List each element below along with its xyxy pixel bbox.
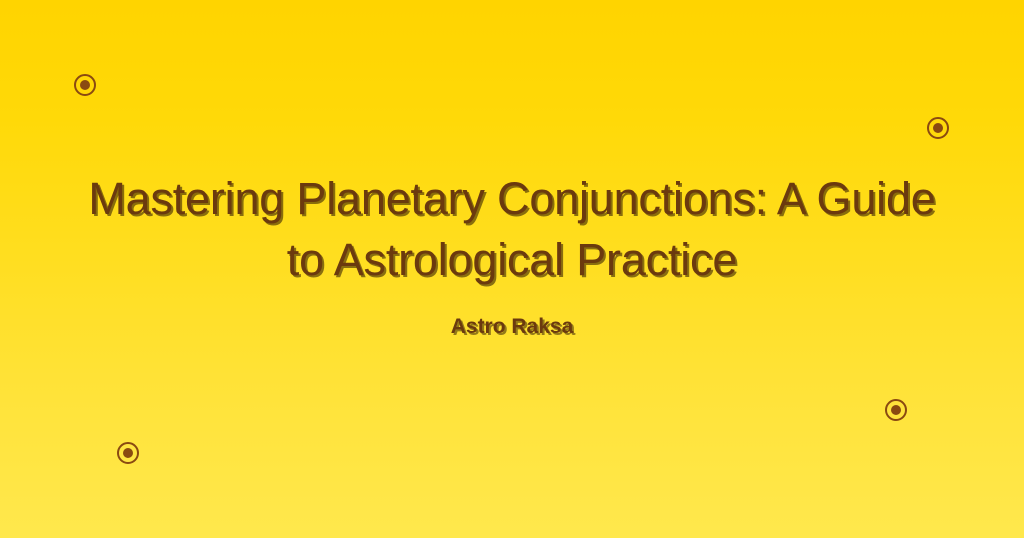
ring-dot-icon-bottom-left (117, 442, 139, 464)
ring-dot-icon-top-right (927, 117, 949, 139)
slide-subtitle: Astro Raksa (26, 314, 998, 340)
page-title: Mastering Planetary Conjunctions: A Guid… (26, 168, 998, 290)
title-slide: Mastering Planetary Conjunctions: A Guid… (0, 0, 1024, 538)
slide-text-block: Mastering Planetary Conjunctions: A Guid… (0, 168, 1024, 340)
ring-dot-icon-top-left (74, 74, 96, 96)
ring-dot-icon-bottom-right (885, 399, 907, 421)
